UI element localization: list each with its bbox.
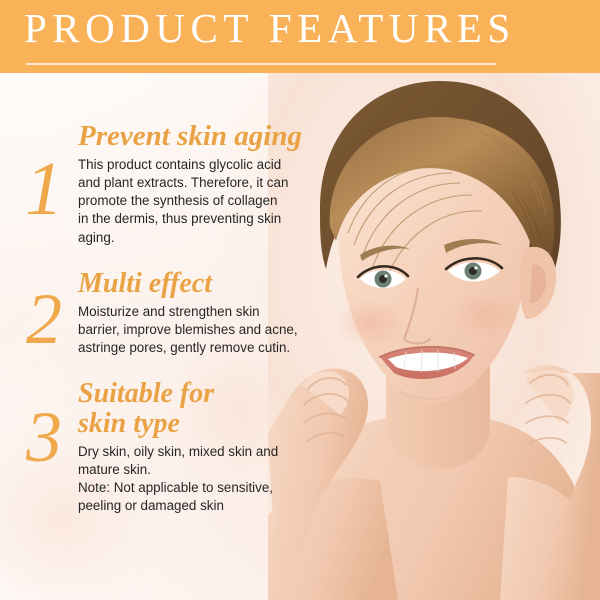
product-features-poster: PRODUCT FEATURES 1 Prevent skin aging Th… [0, 0, 600, 600]
feature-heading-2: Multi effect [78, 269, 318, 299]
feature-text-3: Dry skin, oily skin, mixed skin and matu… [78, 443, 318, 516]
feature-number-2: 2 [14, 283, 74, 355]
feature-item-1: 1 Prevent skin aging This product contai… [0, 121, 330, 247]
page-title: PRODUCT FEATURES [24, 8, 516, 49]
header-underline [26, 63, 496, 65]
feature-text-1: This product contains glycolic acid and … [78, 156, 318, 247]
feature-heading-1: Prevent skin aging [78, 121, 318, 152]
feature-number-1: 1 [14, 151, 74, 227]
feature-number-3: 3 [14, 401, 74, 473]
feature-content-2: Multi effect Moisturize and strengthen s… [78, 269, 330, 357]
feature-content-1: Prevent skin aging This product contains… [78, 121, 330, 247]
header-band: PRODUCT FEATURES [0, 0, 600, 73]
feature-heading-3: Suitable for skin type [78, 379, 318, 438]
feature-text-2: Moisturize and strengthen skin barrier, … [78, 303, 318, 358]
feature-content-3: Suitable for skin type Dry skin, oily sk… [78, 379, 330, 515]
feature-list: 1 Prevent skin aging This product contai… [0, 73, 330, 515]
feature-item-2: 2 Multi effect Moisturize and strengthen… [0, 269, 330, 357]
feature-item-3: 3 Suitable for skin type Dry skin, oily … [0, 379, 330, 515]
